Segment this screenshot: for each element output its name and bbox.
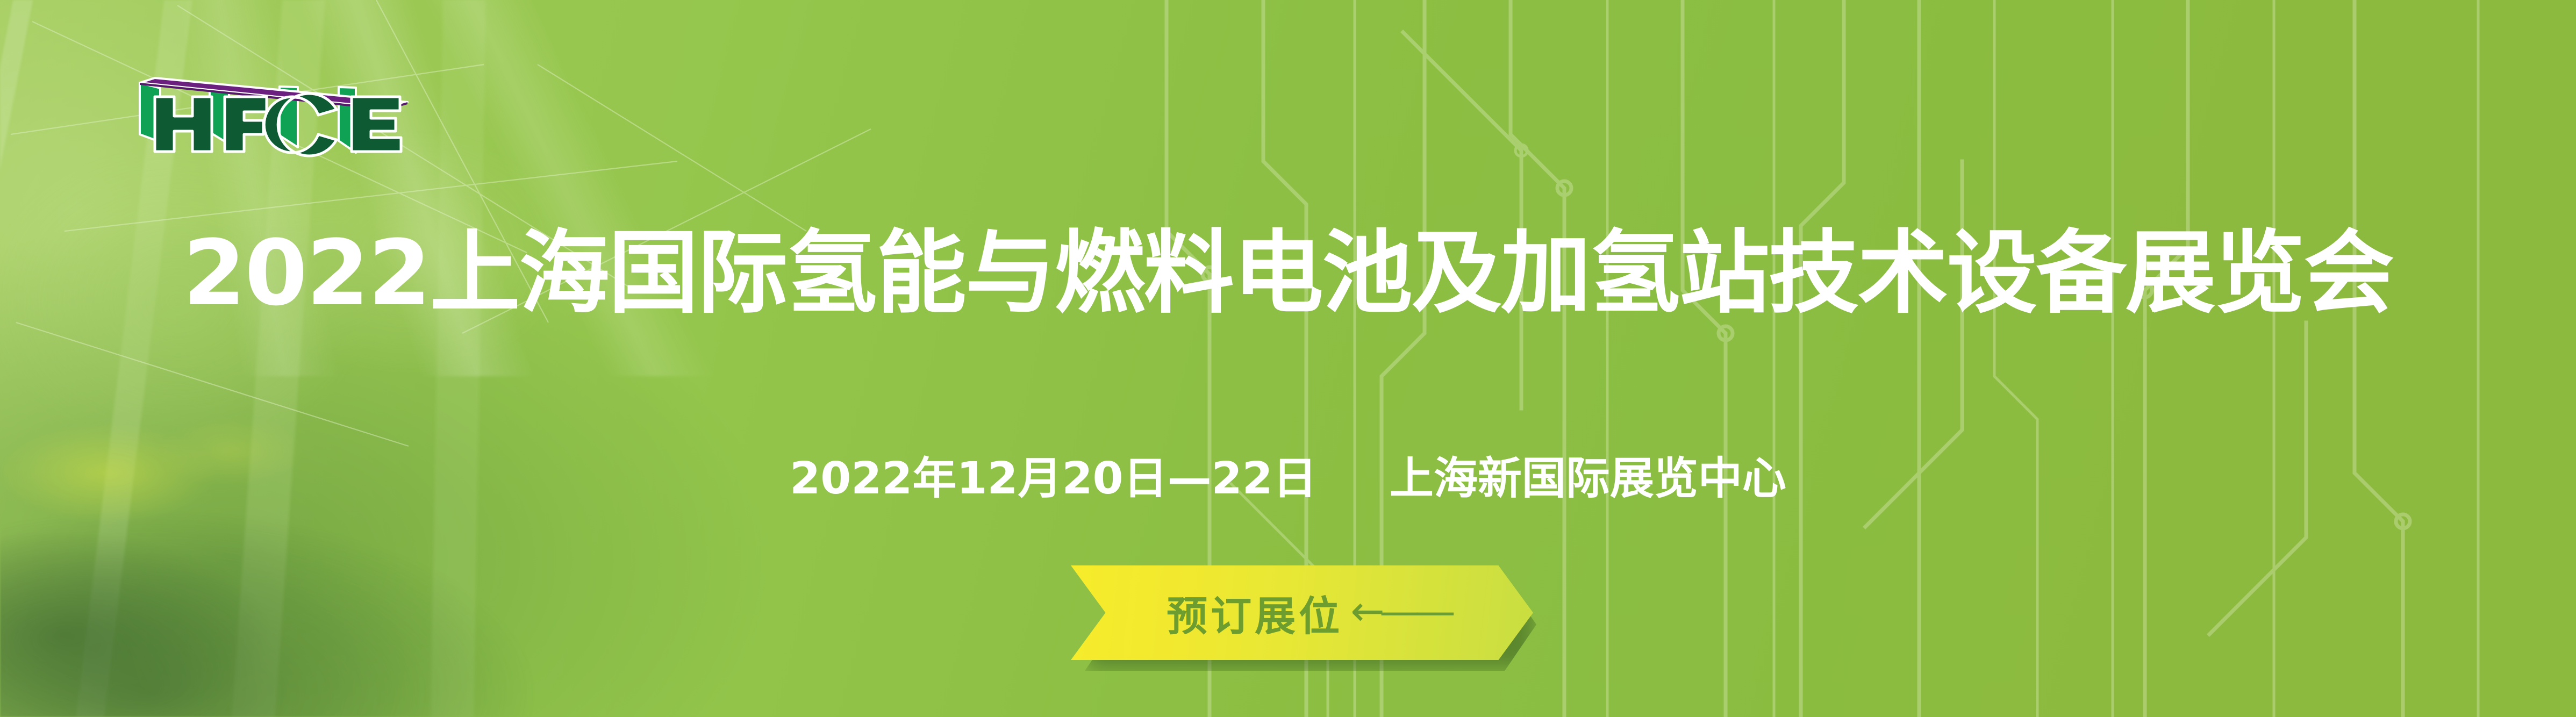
left-arrow-icon: ←—— (1350, 587, 1450, 635)
cta-label-group: 预订展位 ←—— (1167, 583, 1450, 642)
cta-label: 预订展位 (1167, 583, 1343, 642)
event-date: 2022年12月20日—22日 (790, 453, 1317, 504)
exhibition-banner: 2022上海国际氢能与燃料电池及加氢站技术设备展览会 2022年12月20日—2… (0, 0, 2576, 717)
page-title: 2022上海国际氢能与燃料电池及加氢站技术设备展览会 (0, 228, 2576, 318)
event-details: 2022年12月20日—22日 上海新国际展览中心 (0, 457, 2576, 501)
hfce-logo[interactable] (139, 76, 413, 162)
cta-hexagon[interactable]: 预订展位 ←—— (1071, 565, 1533, 660)
book-booth-cta[interactable]: 预订展位 ←—— (1071, 565, 1539, 662)
event-venue: 上海新国际展览中心 (1390, 453, 1786, 504)
logo-letters (155, 94, 401, 156)
